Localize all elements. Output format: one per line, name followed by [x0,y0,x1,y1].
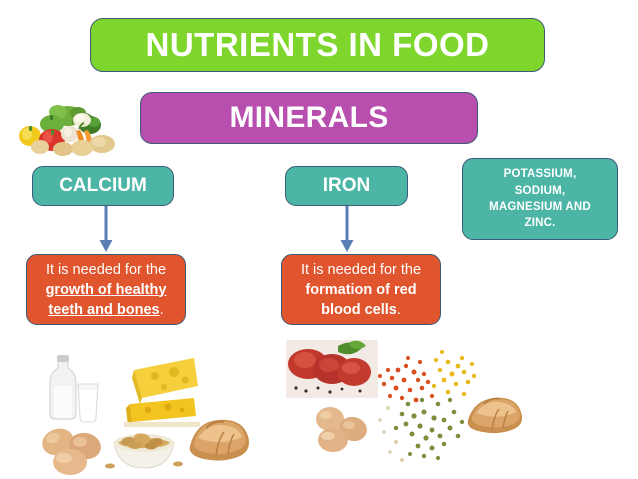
arrow-iron-icon [337,206,357,254]
vegetables-image [10,98,128,160]
page-title: NUTRIENTS IN FOOD [90,18,545,72]
iron-foods-image [272,336,522,478]
iron-desc-lead: It is needed for the [301,262,421,278]
other-line-1: POTASSIUM, [504,168,577,180]
calcium-foods-image [22,342,252,478]
subtitle-minerals: MINERALS [140,92,478,144]
iron-description: It is needed for the formation of red bl… [281,254,441,325]
calcium-desc-lead: It is needed for the [46,262,166,278]
calcium-desc-tail: . [160,302,164,318]
calcium-description-text: It is needed for the growth of healthy t… [35,260,177,320]
category-other-minerals: POTASSIUM, SODIUM, MAGNESIUM AND ZINC. [462,158,618,240]
other-line-4: ZINC. [524,217,555,229]
slide-canvas: NUTRIENTS IN FOOD MINERALS [0,0,638,479]
arrow-calcium-icon [96,206,116,254]
iron-description-text: It is needed for the formation of red bl… [290,260,432,320]
calcium-desc-emphasis: growth of healthy teeth and bones [46,282,167,318]
other-line-2: SODIUM, [515,185,566,197]
category-other-minerals-label: POTASSIUM, SODIUM, MAGNESIUM AND ZINC. [489,166,591,231]
category-calcium: CALCIUM [32,166,174,206]
category-iron: IRON [285,166,408,206]
iron-desc-tail: . [397,302,401,318]
calcium-description: It is needed for the growth of healthy t… [26,254,186,325]
other-line-3: MAGNESIUM AND [489,201,591,213]
